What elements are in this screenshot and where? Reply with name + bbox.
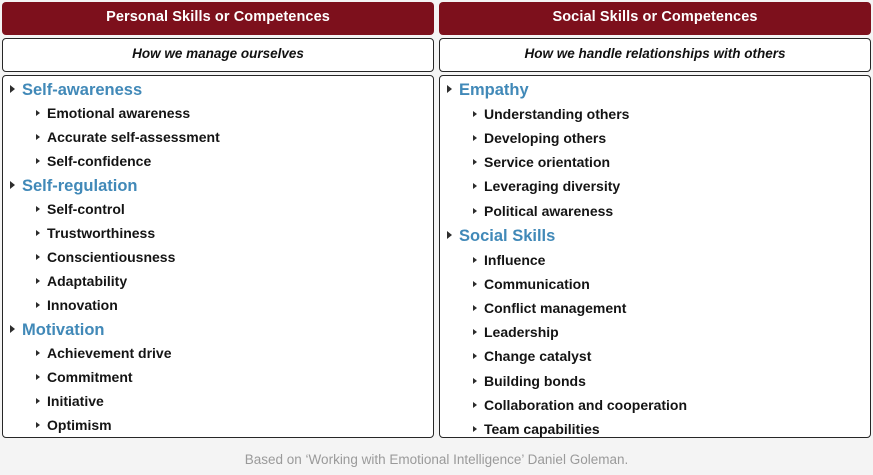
list-item-label: Optimism bbox=[47, 418, 112, 432]
list-item-label: Achievement drive bbox=[47, 346, 172, 360]
list-item[interactable]: Commitment bbox=[10, 370, 427, 394]
group-label: Self-awareness bbox=[22, 82, 142, 99]
list-item[interactable]: Adaptability bbox=[10, 274, 427, 298]
triangle-bullet-icon bbox=[36, 206, 40, 212]
list-item[interactable]: Emotional awareness bbox=[10, 106, 427, 130]
list-item-label: Trustworthiness bbox=[47, 226, 155, 240]
triangle-bullet-icon bbox=[36, 110, 40, 116]
list-item[interactable]: Influence bbox=[447, 253, 864, 277]
list-item-label: Innovation bbox=[47, 298, 118, 312]
triangle-bullet-icon bbox=[473, 183, 477, 189]
triangle-bullet-icon bbox=[473, 378, 477, 384]
list-item[interactable]: Leadership bbox=[447, 325, 864, 349]
triangle-bullet-icon bbox=[10, 181, 15, 189]
column-body-personal: Self-awareness Emotional awareness Accur… bbox=[2, 75, 434, 438]
list-item-label: Collaboration and cooperation bbox=[484, 398, 687, 412]
column-header-social: Social Skills or Competences bbox=[439, 2, 871, 35]
list-item[interactable]: Self-control bbox=[10, 202, 427, 226]
list-item-label: Political awareness bbox=[484, 204, 613, 218]
list-item[interactable]: Service orientation bbox=[447, 155, 864, 179]
list-item-label: Initiative bbox=[47, 394, 104, 408]
triangle-bullet-icon bbox=[473, 111, 477, 117]
list-item-label: Accurate self-assessment bbox=[47, 130, 220, 144]
list-item[interactable]: Developing others bbox=[447, 131, 864, 155]
list-item-label: Developing others bbox=[484, 131, 606, 145]
group-label: Motivation bbox=[22, 322, 105, 339]
group-heading[interactable]: Self-awareness bbox=[10, 82, 427, 106]
triangle-bullet-icon bbox=[10, 325, 15, 333]
triangle-bullet-icon bbox=[36, 230, 40, 236]
group-heading[interactable]: Motivation bbox=[10, 322, 427, 346]
triangle-bullet-icon bbox=[36, 278, 40, 284]
triangle-bullet-icon bbox=[36, 158, 40, 164]
list-item-label: Self-control bbox=[47, 202, 125, 216]
competences-chart: Personal Skills or Competences How we ma… bbox=[0, 0, 873, 475]
list-item-label: Emotional awareness bbox=[47, 106, 190, 120]
list-item-label: Communication bbox=[484, 277, 590, 291]
column-subtitle-social: How we handle relationships with others bbox=[439, 38, 871, 72]
column-subtitle-personal: How we manage ourselves bbox=[2, 38, 434, 72]
list-item[interactable]: Communication bbox=[447, 277, 864, 301]
list-item[interactable]: Conflict management bbox=[447, 301, 864, 325]
columns-container: Personal Skills or Competences How we ma… bbox=[0, 0, 873, 438]
list-item-label: Self-confidence bbox=[47, 154, 151, 168]
group-self-awareness: Self-awareness Emotional awareness Accur… bbox=[10, 82, 427, 178]
list-item[interactable]: Building bonds bbox=[447, 374, 864, 398]
group-social-skills: Social Skills Influence Communication Co… bbox=[447, 228, 864, 447]
group-label: Self-regulation bbox=[22, 178, 138, 195]
triangle-bullet-icon bbox=[36, 254, 40, 260]
list-item-label: Commitment bbox=[47, 370, 133, 384]
column-header-personal: Personal Skills or Competences bbox=[2, 2, 434, 35]
group-motivation: Motivation Achievement drive Commitment … bbox=[10, 322, 427, 442]
triangle-bullet-icon bbox=[473, 402, 477, 408]
triangle-bullet-icon bbox=[473, 135, 477, 141]
triangle-bullet-icon bbox=[36, 134, 40, 140]
group-label: Social Skills bbox=[459, 228, 555, 245]
triangle-bullet-icon bbox=[473, 281, 477, 287]
list-item[interactable]: Conscientiousness bbox=[10, 250, 427, 274]
column-body-social: Empathy Understanding others Developing … bbox=[439, 75, 871, 438]
triangle-bullet-icon bbox=[473, 329, 477, 335]
triangle-bullet-icon bbox=[473, 257, 477, 263]
list-item-label: Building bonds bbox=[484, 374, 586, 388]
group-heading[interactable]: Self-regulation bbox=[10, 178, 427, 202]
list-item[interactable]: Political awareness bbox=[447, 204, 864, 228]
list-item[interactable]: Accurate self-assessment bbox=[10, 130, 427, 154]
triangle-bullet-icon bbox=[473, 305, 477, 311]
list-item-label: Adaptability bbox=[47, 274, 127, 288]
list-item[interactable]: Optimism bbox=[10, 418, 427, 442]
triangle-bullet-icon bbox=[473, 159, 477, 165]
list-item-label: Understanding others bbox=[484, 107, 629, 121]
list-item-label: Change catalyst bbox=[484, 349, 591, 363]
list-item[interactable]: Change catalyst bbox=[447, 349, 864, 373]
list-item-label: Leadership bbox=[484, 325, 559, 339]
triangle-bullet-icon bbox=[473, 426, 477, 432]
triangle-bullet-icon bbox=[36, 398, 40, 404]
triangle-bullet-icon bbox=[473, 208, 477, 214]
list-item[interactable]: Achievement drive bbox=[10, 346, 427, 370]
column-social-skills: Social Skills or Competences How we hand… bbox=[439, 2, 871, 438]
group-heading[interactable]: Social Skills bbox=[447, 228, 864, 253]
triangle-bullet-icon bbox=[36, 302, 40, 308]
list-item-label: Team capabilities bbox=[484, 422, 600, 436]
list-item-label: Conflict management bbox=[484, 301, 626, 315]
list-item[interactable]: Team capabilities bbox=[447, 422, 864, 446]
group-empathy: Empathy Understanding others Developing … bbox=[447, 82, 864, 228]
list-item[interactable]: Understanding others bbox=[447, 107, 864, 131]
triangle-bullet-icon bbox=[447, 231, 452, 239]
triangle-bullet-icon bbox=[10, 85, 15, 93]
list-item[interactable]: Collaboration and cooperation bbox=[447, 398, 864, 422]
list-item-label: Influence bbox=[484, 253, 545, 267]
source-caption: Based on ‘Working with Emotional Intelli… bbox=[0, 452, 873, 468]
triangle-bullet-icon bbox=[36, 374, 40, 380]
list-item-label: Conscientiousness bbox=[47, 250, 175, 264]
list-item[interactable]: Trustworthiness bbox=[10, 226, 427, 250]
group-heading[interactable]: Empathy bbox=[447, 82, 864, 107]
list-item[interactable]: Self-confidence bbox=[10, 154, 427, 178]
list-item-label: Service orientation bbox=[484, 155, 610, 169]
triangle-bullet-icon bbox=[473, 353, 477, 359]
triangle-bullet-icon bbox=[36, 422, 40, 428]
list-item-label: Leveraging diversity bbox=[484, 179, 620, 193]
group-self-regulation: Self-regulation Self-control Trustworthi… bbox=[10, 178, 427, 322]
triangle-bullet-icon bbox=[36, 350, 40, 356]
column-personal-skills: Personal Skills or Competences How we ma… bbox=[2, 2, 434, 438]
list-item[interactable]: Initiative bbox=[10, 394, 427, 418]
list-item[interactable]: Leveraging diversity bbox=[447, 179, 864, 203]
triangle-bullet-icon bbox=[447, 85, 452, 93]
list-item[interactable]: Innovation bbox=[10, 298, 427, 322]
group-label: Empathy bbox=[459, 82, 529, 99]
